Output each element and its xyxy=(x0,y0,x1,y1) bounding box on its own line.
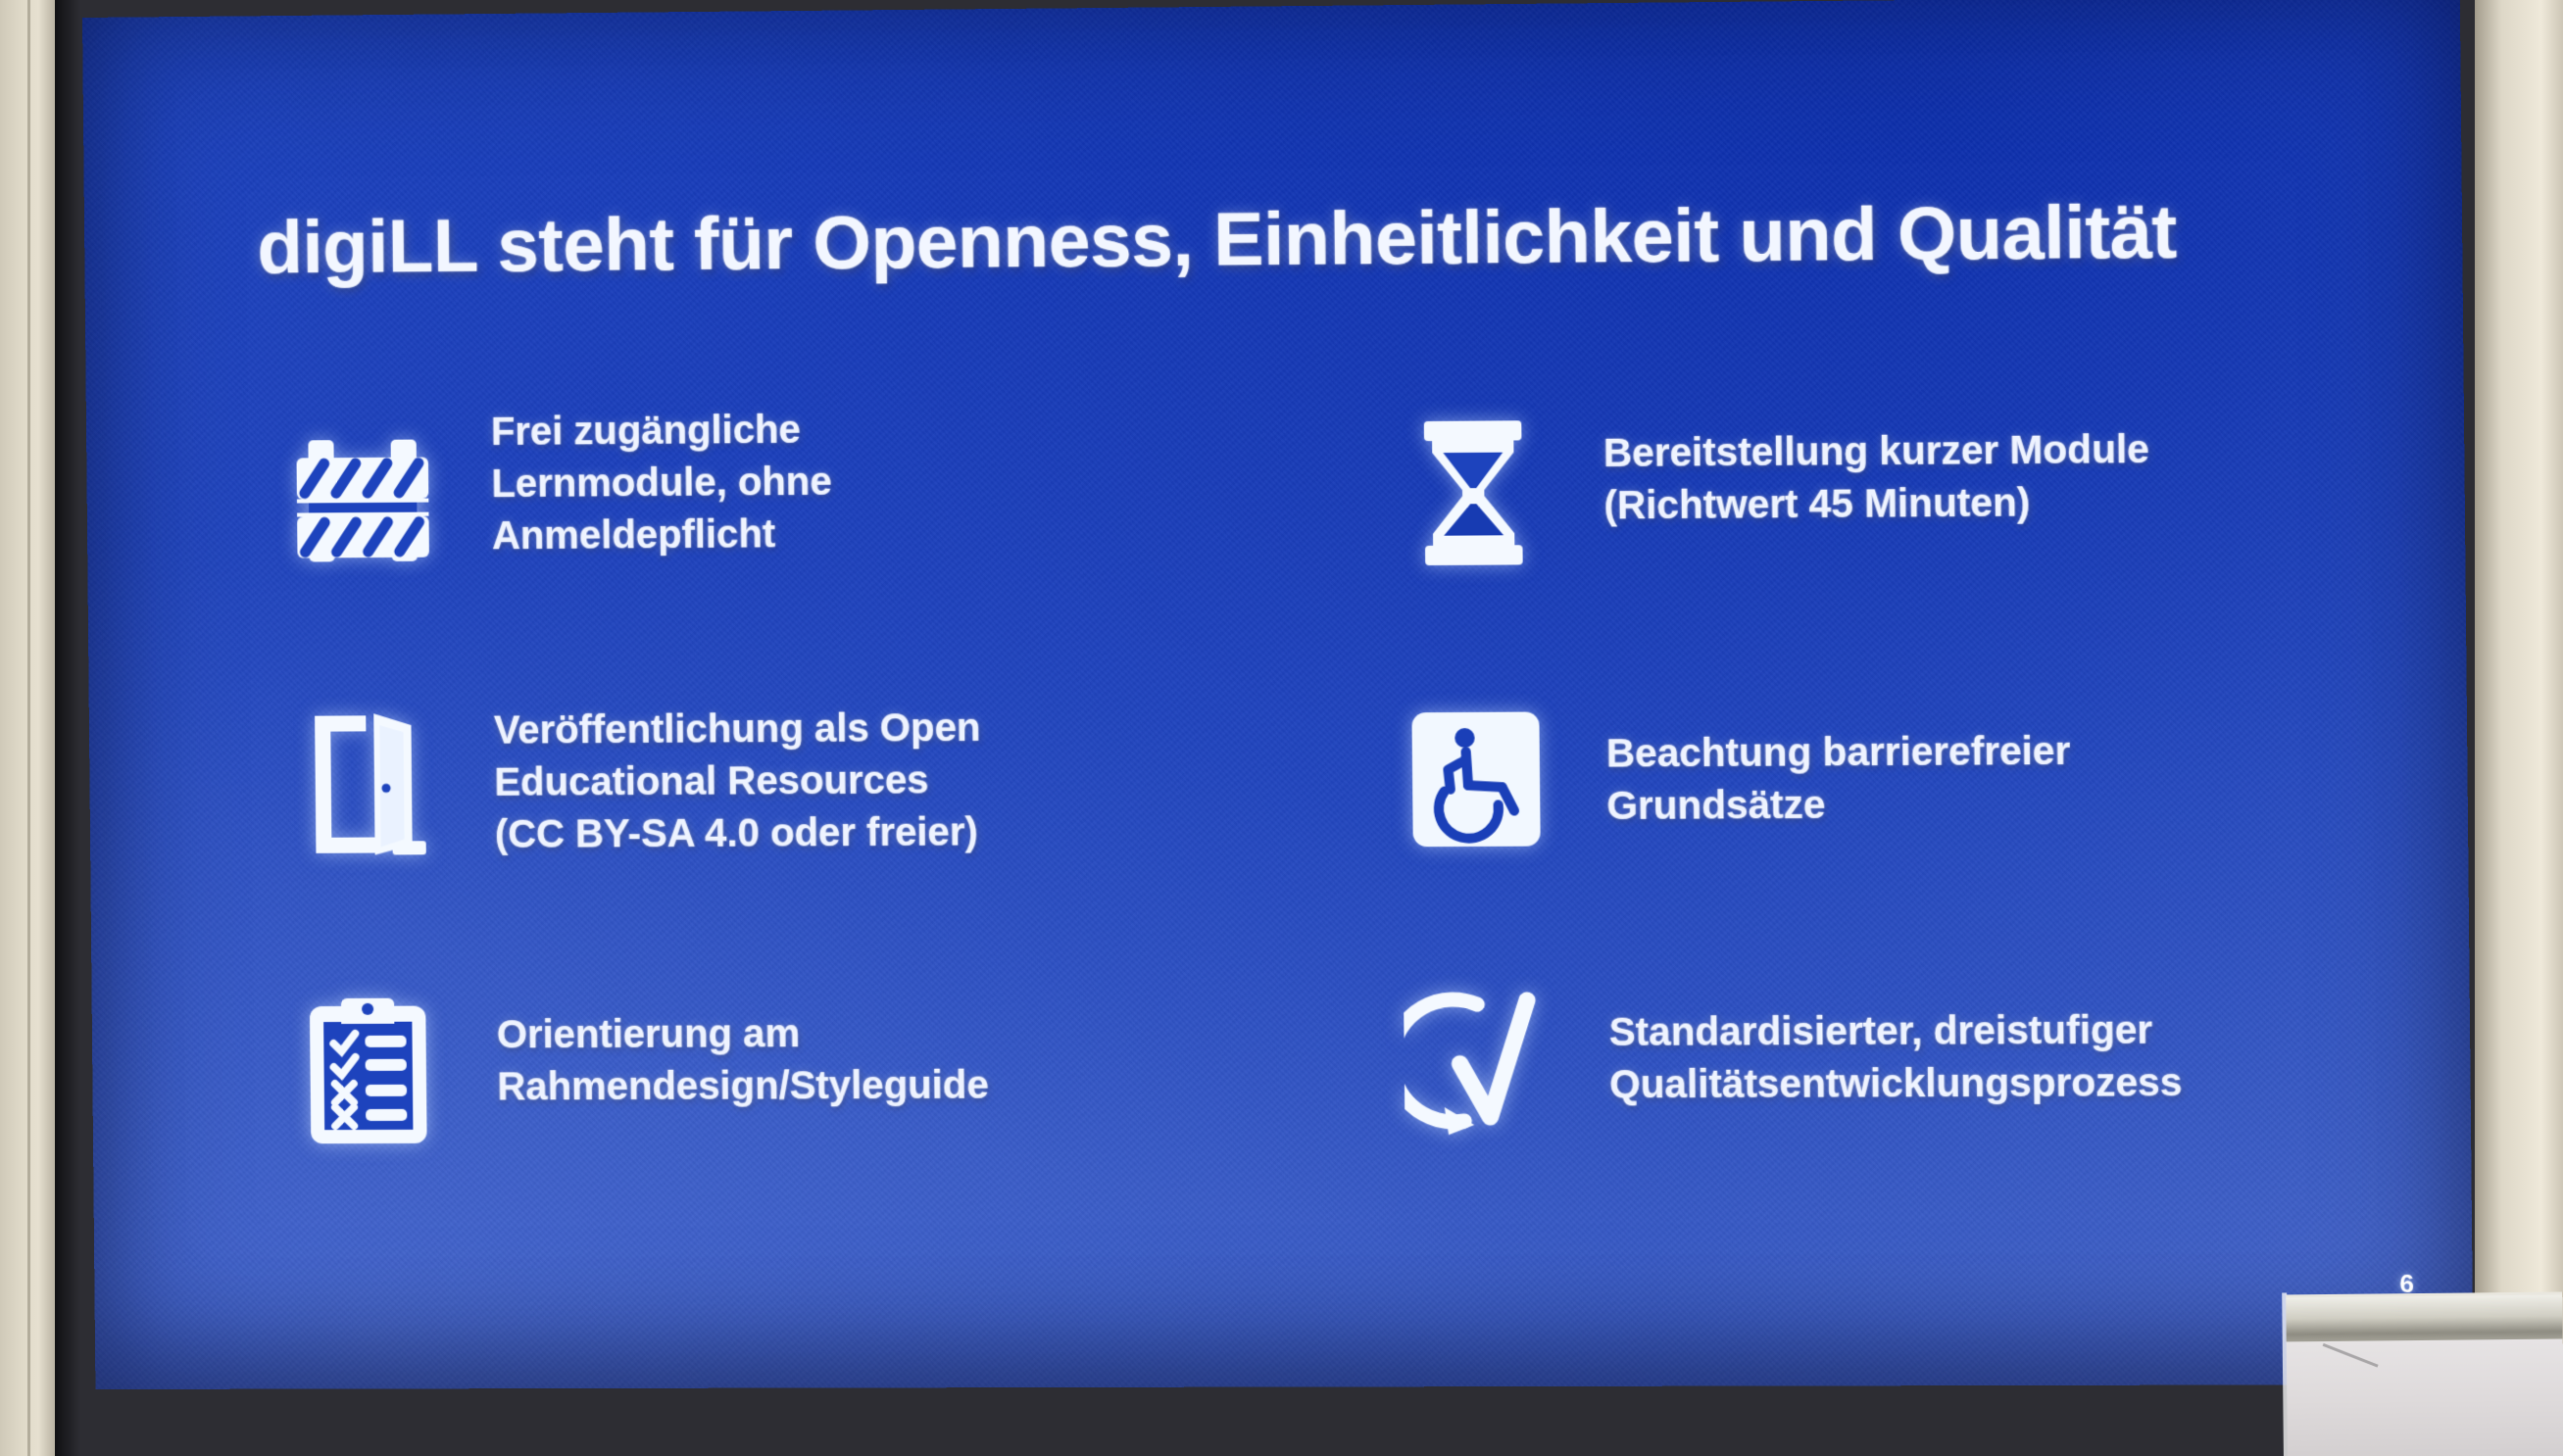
bullet-text: Frei zugängliche Lernmodule, ohne Anmeld… xyxy=(491,404,833,563)
slide-content: digiLL steht für Openness, Einheitlichke… xyxy=(82,0,2474,1389)
open-door-icon xyxy=(262,692,469,879)
accessibility-wheelchair-icon xyxy=(1371,685,1582,874)
bullet-item: Standardisierter, dreistufiger Qualitäts… xyxy=(1355,968,2333,1258)
bullet-text: Veröffentlichung als Open Educational Re… xyxy=(493,689,981,862)
bullet-item: Frei zugängliche Lernmodule, ohne Anmeld… xyxy=(259,401,1224,693)
circular-arrow-checkmark-icon xyxy=(1373,971,1584,1159)
projected-slide: digiLL steht für Openness, Einheitlichke… xyxy=(82,0,2474,1389)
wall-left-strip xyxy=(0,0,55,1456)
bullet-grid: Frei zugängliche Lernmodule, ohne Anmeld… xyxy=(259,393,2333,1262)
bullet-item: Beachtung barrierefreier Grundsätze xyxy=(1353,681,2330,973)
hourglass-icon xyxy=(1368,399,1579,588)
barrier-icon xyxy=(259,407,467,595)
wall-right-strip xyxy=(2475,0,2563,1456)
bullet-item: Bereitstellung kurzer Module (Richtwert … xyxy=(1351,393,2328,686)
room-scene: digiLL steht für Openness, Einheitlichke… xyxy=(0,0,2563,1456)
bullet-text: Orientierung am Rahmendesign/Styleguide xyxy=(496,974,989,1114)
bullet-item: Veröffentlichung als Open Educational Re… xyxy=(262,687,1227,977)
clipboard-checklist-icon xyxy=(265,976,472,1163)
bezel-inner-shadow xyxy=(55,0,80,1456)
slide-title: digiLL steht für Openness, Einheitlichke… xyxy=(257,191,2292,289)
bullet-text: Standardisierter, dreistufiger Qualitäts… xyxy=(1608,969,2183,1112)
flipchart-foreground xyxy=(2278,1278,2563,1456)
bullet-text: Beachtung barrierefreier Grundsätze xyxy=(1605,682,2071,833)
bullet-item: Orientierung am Rahmendesign/Styleguide xyxy=(265,973,1230,1262)
bullet-text: Bereitstellung kurzer Module (Richtwert … xyxy=(1602,394,2149,533)
